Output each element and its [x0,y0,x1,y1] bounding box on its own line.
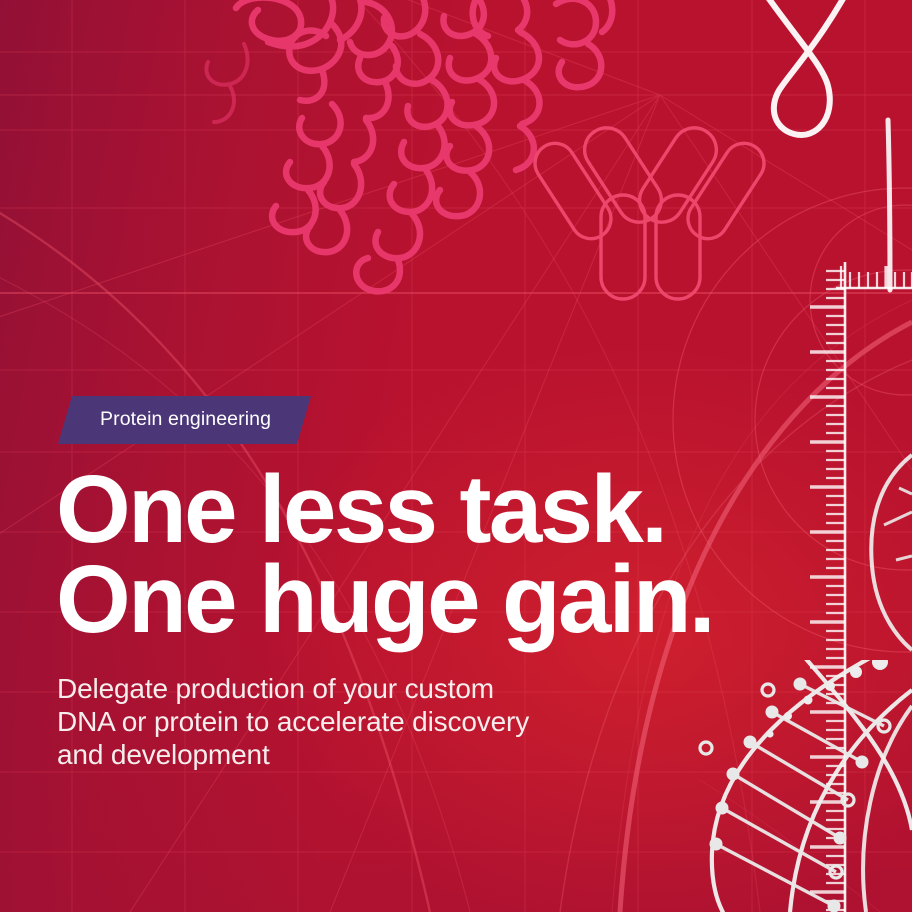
category-badge[interactable]: Protein engineering [58,396,311,444]
subcopy-line-2: DNA or protein to accelerate discovery [57,706,529,739]
category-badge-label: Protein engineering [58,396,311,444]
hero-content: Protein engineering One less task. One h… [0,0,912,912]
page-title: One less task. One huge gain. [56,465,713,645]
subcopy-line-1: Delegate production of your custom [57,673,529,706]
subcopy: Delegate production of your custom DNA o… [57,673,529,772]
headline-line-1: One less task. [56,465,713,555]
headline-line-2: One huge gain. [56,555,713,645]
subcopy-line-3: and development [57,739,529,772]
hero-banner: Protein engineering One less task. One h… [0,0,912,912]
